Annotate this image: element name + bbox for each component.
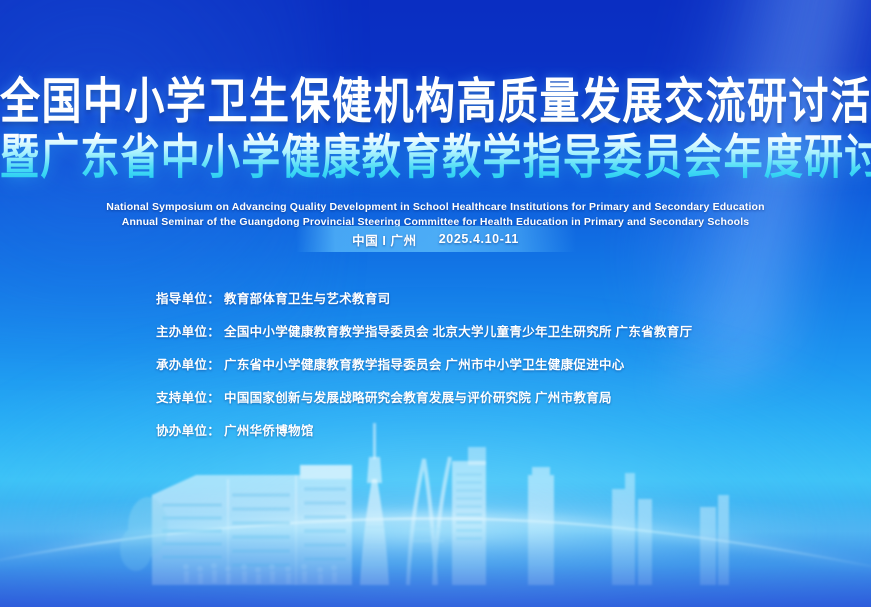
office-tower [528,467,554,585]
organizer-value: 广州华侨博物馆 [224,420,314,439]
tree-cluster [120,497,168,571]
organizer-row: 承办单位： 广东省中小学健康教育教学指导委员会 广州市中小学卫生健康促进中心 [156,354,692,373]
badge-location: 中国 I 广州 [352,230,417,249]
organizer-row: 支持单位： 中国国家创新与发展战略研究会教育发展与评价研究院 广州市教育局 [156,387,692,406]
organizer-value: 中国国家创新与发展战略研究会教育发展与评价研究院 广州市教育局 [224,387,612,406]
people-silhouettes [183,563,337,584]
poster-title-line2: 暨广东省中小学健康教育教学指导委员会年度研讨活动 [0,132,871,186]
subtitle-english-line1: National Symposium on Advancing Quality … [0,200,871,215]
headline-block: 全国中小学卫生保健机构高质量发展交流研讨活动 暨广东省中小学健康教育教学指导委员… [0,74,871,230]
organizer-row: 主办单位： 全国中小学健康教育教学指导委员会 北京大学儿童青少年卫生研究所 广东… [156,321,692,340]
organizer-label: 支持单位： [156,387,220,406]
twin-tower-bridge [412,529,444,541]
organizer-label: 主办单位： [156,321,220,340]
organizer-row: 指导单位： 教育部体育卫生与艺术教育司 [156,288,692,307]
organizer-value: 广东省中小学健康教育教学指导委员会 广州市中小学卫生健康促进中心 [224,354,625,373]
skyscraper-cluster [612,473,729,585]
organizer-label: 指导单位： [156,288,220,307]
badge-date: 2025.4.10-11 [439,232,519,246]
venue-badge-row: 中国 I 广州 2025.4.10-11 [0,226,871,252]
horizon-glow [0,500,871,570]
conference-poster: 全国中小学卫生保健机构高质量发展交流研讨活动 暨广东省中小学健康教育教学指导委员… [0,0,871,607]
poster-title-line1: 全国中小学卫生保健机构高质量发展交流研讨活动 [0,74,871,130]
organizer-row: 协办单位： 广州华侨博物馆 [156,420,692,439]
twin-towers [408,457,450,585]
skyline-haze-overlay [0,502,871,607]
venue-badge: 中国 I 广州 2025.4.10-11 [296,226,576,252]
organizer-list: 指导单位： 教育部体育卫生与艺术教育司 主办单位： 全国中小学健康教育教学指导委… [156,288,692,453]
organizer-label: 协办单位： [156,420,220,439]
stepped-tower [452,447,486,585]
school-building [152,465,352,585]
organizer-value: 全国中小学健康教育教学指导委员会 北京大学儿童青少年卫生研究所 广东省教育厅 [224,321,692,340]
organizer-value: 教育部体育卫生与艺术教育司 [224,288,390,307]
organizer-label: 承办单位： [156,354,220,373]
